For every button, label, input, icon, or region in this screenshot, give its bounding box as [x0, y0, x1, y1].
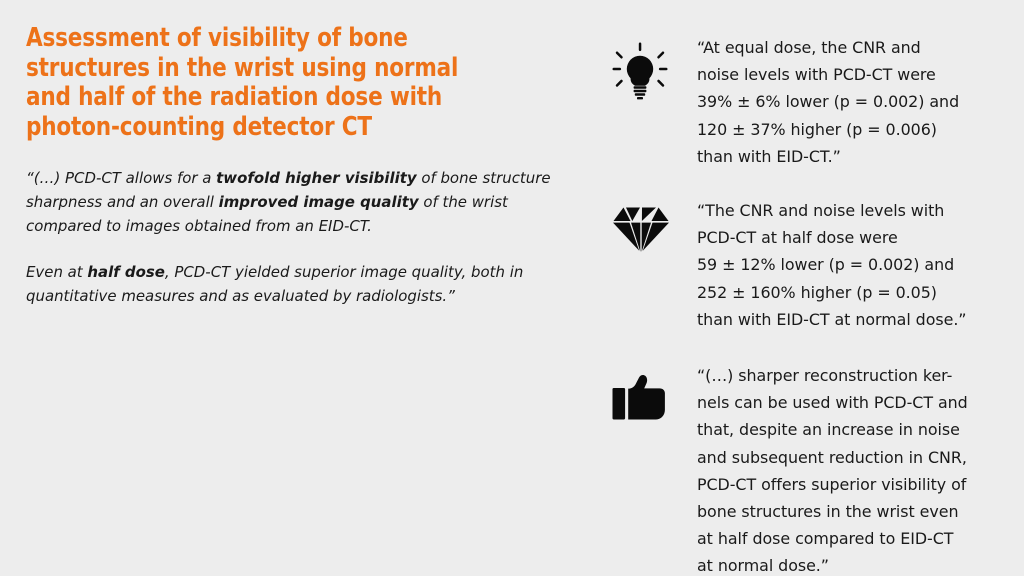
- findings-line: PCD-CT offers superior visibility of: [697, 471, 1004, 498]
- title-line-4: photon-counting detector CT: [26, 113, 558, 143]
- findings-line: noise levels with PCD-CT were: [697, 61, 1004, 88]
- title-line-1: Assessment of visibility of bone: [26, 24, 558, 54]
- findings-line: and subsequent reduction in CNR,: [697, 444, 1004, 471]
- findings-block: “(…) sharper reconstruction ker- nels ca…: [612, 362, 1012, 576]
- findings-line: than with EID-CT.”: [697, 143, 1004, 170]
- page-title: Assessment of visibility of bone structu…: [26, 24, 558, 142]
- diamond-icon: [612, 203, 670, 253]
- findings-line: 252 ± 160% higher (p = 0.05): [697, 279, 1004, 306]
- findings-line: “At equal dose, the CNR and: [697, 34, 1004, 61]
- paragraph-1-bold-1: twofold higher visibility: [216, 169, 416, 187]
- thumbs-up-icon: [612, 374, 670, 422]
- findings-text: “At equal dose, the CNR and noise levels…: [697, 34, 1004, 170]
- findings-line: bone structures in the wrist even: [697, 498, 1004, 525]
- findings-line: nels can be used with PCD-CT and: [697, 389, 1004, 416]
- paragraph-2-part-1: Even at: [26, 263, 87, 281]
- title-line-3: and half of the radiation dose with: [26, 83, 558, 113]
- paragraph-1-bold-2: improved image quality: [219, 193, 419, 211]
- findings-line: 120 ± 37% higher (p = 0.006): [697, 116, 1004, 143]
- findings-line: at half dose compared to EID-CT: [697, 525, 1004, 552]
- findings-line: that, despite an increase in noise: [697, 416, 1004, 443]
- findings-line: 59 ± 12% lower (p = 0.002) and: [697, 251, 1004, 278]
- findings-line: at normal dose.”: [697, 552, 1004, 576]
- findings-line: “The CNR and noise levels with: [697, 197, 1004, 224]
- findings-block: “At equal dose, the CNR and noise levels…: [612, 34, 1012, 170]
- findings-text: “The CNR and noise levels with PCD-CT at…: [697, 197, 1004, 333]
- body-paragraph-1: “(…) PCD-CT allows for a twofold higher …: [26, 166, 560, 239]
- findings-line: “(…) sharper reconstruction ker-: [697, 362, 1004, 389]
- icon-cell: [612, 34, 697, 102]
- findings-line: PCD-CT at half dose were: [697, 224, 1004, 251]
- lightbulb-icon: [612, 42, 668, 102]
- slide-canvas: Assessment of visibility of bone structu…: [0, 0, 1024, 576]
- right-column: “At equal dose, the CNR and noise levels…: [612, 34, 1012, 576]
- findings-line: 39% ± 6% lower (p = 0.002) and: [697, 88, 1004, 115]
- title-line-2: structures in the wrist using normal: [26, 54, 558, 84]
- findings-line: than with EID-CT at normal dose.”: [697, 306, 1004, 333]
- paragraph-1-part-1: “(…) PCD-CT allows for a: [26, 169, 216, 187]
- findings-text: “(…) sharper reconstruction ker- nels ca…: [697, 362, 1004, 576]
- left-column: Assessment of visibility of bone structu…: [26, 24, 560, 308]
- findings-block: “The CNR and noise levels with PCD-CT at…: [612, 197, 1012, 333]
- icon-cell: [612, 362, 697, 422]
- body-paragraph-2: Even at half dose, PCD-CT yielded superi…: [26, 260, 560, 308]
- paragraph-2-bold-1: half dose: [87, 263, 164, 281]
- body-quote-text: “(…) PCD-CT allows for a twofold higher …: [26, 166, 560, 308]
- icon-cell: [612, 197, 697, 253]
